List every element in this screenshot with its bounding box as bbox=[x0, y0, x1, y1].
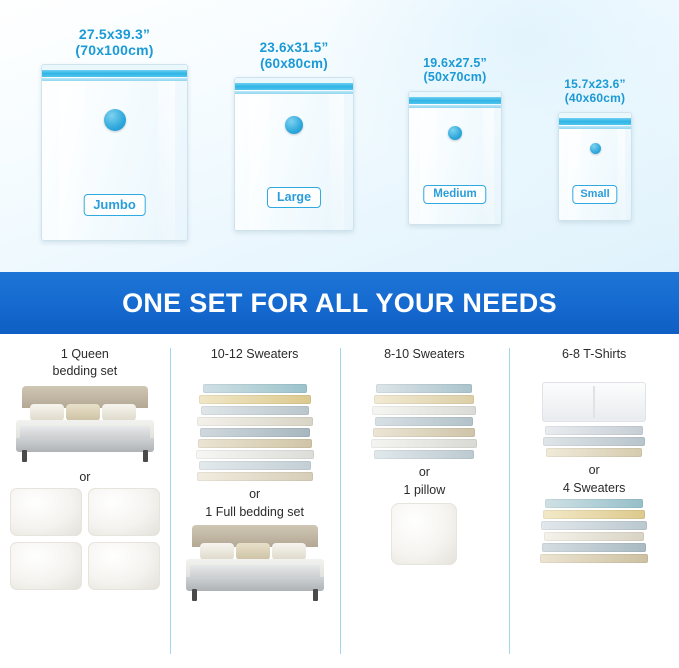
four-pillows-illustration bbox=[10, 488, 160, 590]
capacity-jumbo-primary-line1: 1 Queen bbox=[61, 347, 109, 361]
bed-pillow bbox=[200, 543, 234, 560]
folded-item bbox=[201, 406, 309, 415]
valve-icon bbox=[448, 126, 462, 140]
bag-sheen-right bbox=[617, 129, 626, 220]
bag-medium-size-cm: (50x70cm) bbox=[380, 70, 530, 84]
bed-pillow bbox=[272, 543, 306, 560]
zipper-icon bbox=[409, 97, 501, 104]
capacity-small-secondary: 4 Sweaters bbox=[515, 481, 673, 495]
bed-skirt bbox=[186, 577, 324, 591]
folded-item bbox=[545, 426, 643, 435]
zipper-icon bbox=[235, 83, 353, 90]
pillow-icon bbox=[88, 488, 160, 536]
folded-item bbox=[545, 499, 643, 508]
bag-sheen-right bbox=[329, 94, 343, 230]
bag-jumbo-size-cm: (70x100cm) bbox=[22, 42, 207, 58]
capacity-large-primary: 10-12 Sweaters bbox=[176, 346, 334, 380]
folded-item bbox=[203, 384, 307, 393]
bag-jumbo-size-inches: 27.5x39.3” bbox=[22, 26, 207, 42]
bag-large-name: Large bbox=[267, 187, 321, 208]
bag-small-name: Small bbox=[572, 185, 617, 204]
folded-item bbox=[372, 406, 476, 415]
folded-item bbox=[546, 448, 642, 457]
capacity-jumbo-primary: 1 Queen bedding set bbox=[6, 346, 164, 380]
folded-item bbox=[375, 417, 473, 426]
valve-icon bbox=[285, 116, 303, 134]
capacity-jumbo-or: or bbox=[6, 470, 164, 484]
bed-skirt bbox=[16, 438, 154, 452]
folded-item bbox=[543, 437, 645, 446]
folded-item bbox=[198, 439, 312, 448]
bed-pillow bbox=[66, 404, 100, 421]
bag-sheen bbox=[249, 94, 270, 230]
headline-banner: ONE SET FOR ALL YOUR NEEDS bbox=[0, 272, 679, 334]
sweater-stack-illustration bbox=[371, 384, 477, 459]
folded-item bbox=[199, 461, 311, 470]
bed-pillow bbox=[236, 543, 270, 560]
pillow-icon bbox=[10, 488, 82, 536]
pillow-icon bbox=[88, 542, 160, 590]
tshirt-stack-illustration bbox=[542, 426, 646, 457]
capacity-large-or: or bbox=[176, 487, 334, 501]
bag-jumbo-name: Jumbo bbox=[83, 194, 146, 216]
folded-item bbox=[374, 395, 474, 404]
folded-item bbox=[373, 428, 475, 437]
folded-item bbox=[544, 532, 644, 541]
bag-small-size-inches: 15.7x23.6” bbox=[524, 78, 666, 92]
capacity-small-or: or bbox=[515, 463, 673, 477]
valve-icon bbox=[104, 109, 126, 131]
capacity-medium-primary: 8-10 Sweaters bbox=[346, 346, 504, 380]
bed-leg bbox=[143, 450, 148, 462]
valve-icon bbox=[590, 143, 601, 154]
pillow-icon bbox=[10, 542, 82, 590]
bag-medium-graphic: Medium bbox=[408, 91, 502, 225]
capacity-medium-secondary: 1 pillow bbox=[346, 483, 504, 497]
folded-item bbox=[199, 395, 311, 404]
folded-item bbox=[197, 417, 313, 426]
bed-leg bbox=[313, 589, 318, 601]
bag-large-graphic: Large bbox=[234, 77, 354, 231]
bag-large-size-cm: (60x80cm) bbox=[206, 56, 382, 72]
bag-sizes-section: 27.5x39.3” (70x100cm) Jumbo 23.6x31.5” (… bbox=[0, 0, 679, 272]
capacity-medium-or: or bbox=[346, 465, 504, 479]
folded-item bbox=[541, 521, 647, 530]
folded-item bbox=[200, 428, 310, 437]
bag-sheen-right bbox=[158, 81, 175, 240]
capacity-column-small: 6-8 T-Shirts or 4 Sweaters bbox=[509, 334, 679, 668]
zipper-icon bbox=[42, 70, 187, 77]
bed-pillow bbox=[102, 404, 136, 421]
bag-small-size-cm: (40x60cm) bbox=[524, 92, 666, 106]
bed-pillow bbox=[30, 404, 64, 421]
pillow-icon bbox=[391, 503, 457, 565]
folded-item bbox=[371, 439, 477, 448]
capacity-large-secondary: 1 Full bedding set bbox=[176, 505, 334, 519]
banner-title: ONE SET FOR ALL YOUR NEEDS bbox=[122, 288, 557, 319]
bag-small: 15.7x23.6” (40x60cm) Small bbox=[524, 78, 666, 221]
folded-item bbox=[542, 543, 646, 552]
bag-large: 23.6x31.5” (60x80cm) Large bbox=[206, 40, 382, 231]
zipper-icon bbox=[559, 118, 631, 125]
bed-leg bbox=[22, 450, 27, 462]
capacity-column-large: 10-12 Sweaters or 1 Full bedding set bbox=[170, 334, 340, 668]
folded-item bbox=[374, 450, 474, 459]
bag-small-graphic: Small bbox=[558, 112, 632, 221]
queen-bed-illustration bbox=[10, 386, 160, 464]
bag-sheen bbox=[420, 108, 437, 224]
bag-row: 27.5x39.3” (70x100cm) Jumbo 23.6x31.5” (… bbox=[0, 0, 679, 272]
capacity-grid: 1 Queen bedding set or 10-12 Sweaters bbox=[0, 334, 679, 668]
folded-item bbox=[543, 510, 645, 519]
folded-item bbox=[196, 450, 314, 459]
bag-jumbo: 27.5x39.3” (70x100cm) Jumbo bbox=[22, 26, 207, 241]
capacity-column-medium: 8-10 Sweaters or 1 pillow bbox=[340, 334, 510, 668]
bag-medium: 19.6x27.5” (50x70cm) Medium bbox=[380, 56, 530, 225]
bag-medium-size-inches: 19.6x27.5” bbox=[380, 56, 530, 70]
bag-sheen bbox=[568, 129, 581, 220]
capacity-small-primary: 6-8 T-Shirts bbox=[515, 346, 673, 380]
folded-item bbox=[197, 472, 313, 481]
sweater-stack-illustration bbox=[540, 499, 648, 563]
sweater-stack-illustration bbox=[196, 384, 314, 481]
bag-sheen bbox=[59, 81, 85, 240]
capacity-jumbo-primary-line2: bedding set bbox=[53, 364, 118, 378]
bag-sheen-right bbox=[483, 108, 494, 224]
folded-item bbox=[376, 384, 472, 393]
folded-shirt-icon bbox=[542, 382, 646, 422]
capacity-column-jumbo: 1 Queen bedding set or bbox=[0, 334, 170, 668]
full-bed-illustration bbox=[180, 525, 330, 603]
bag-large-size-inches: 23.6x31.5” bbox=[206, 40, 382, 56]
bag-jumbo-graphic: Jumbo bbox=[41, 64, 188, 241]
folded-item bbox=[540, 554, 648, 563]
bag-medium-name: Medium bbox=[423, 185, 486, 204]
bed-leg bbox=[192, 589, 197, 601]
